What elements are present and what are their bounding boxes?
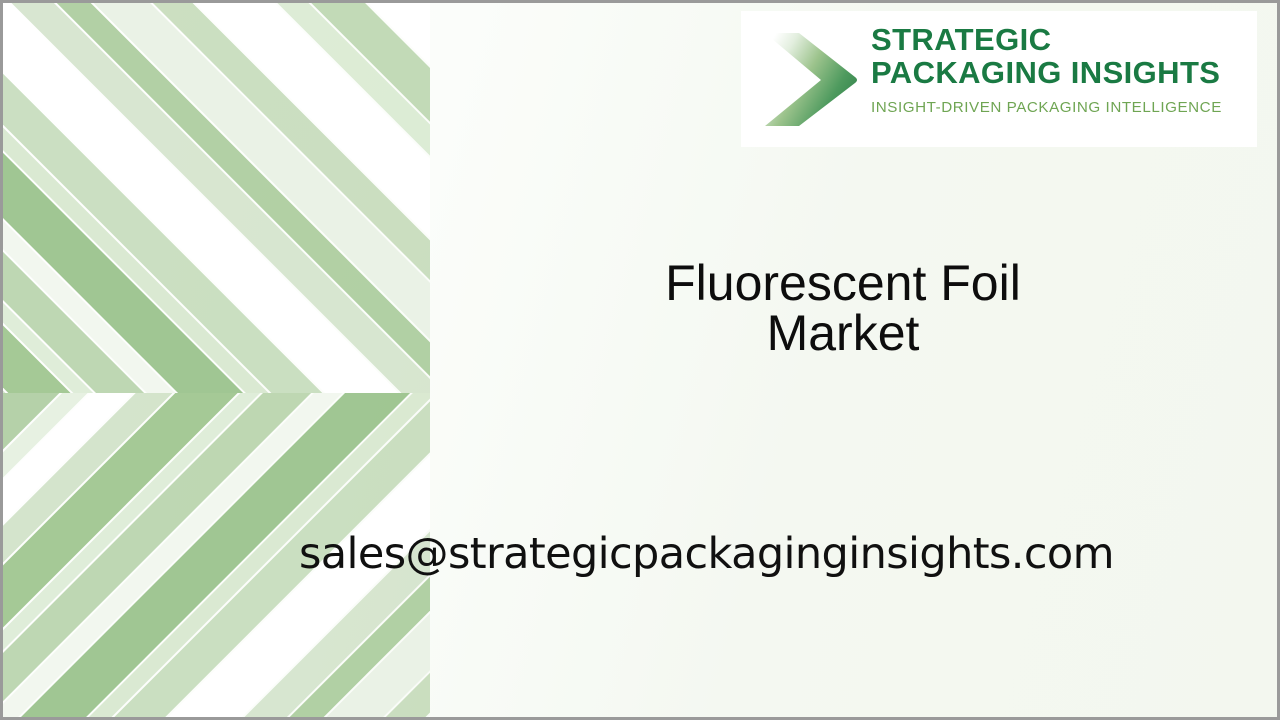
stripe-20 (0, 0, 430, 393)
presentation-slide: STRATEGIC PACKAGING INSIGHTS INSIGHT-DRI… (0, 0, 1280, 720)
stripe-19 (0, 0, 430, 393)
stripe-13 (0, 0, 430, 393)
stripe-17 (0, 0, 430, 393)
contact-email[interactable]: sales@strategicpackaginginsights.com (299, 527, 1114, 581)
stripe-0 (0, 120, 430, 393)
stripe-1 (0, 107, 430, 393)
company-logo: STRATEGIC PACKAGING INSIGHTS INSIGHT-DRI… (741, 11, 1257, 147)
stripe-24 (0, 0, 430, 393)
stripe-10 (0, 0, 430, 393)
stripe-21 (0, 0, 430, 393)
stripe-23 (0, 0, 430, 393)
stripe-9 (0, 0, 430, 393)
page-title-line-1: Fluorescent Foil (665, 255, 1021, 311)
page-title: Fluorescent Foil Market (563, 258, 1123, 358)
stripe-15 (0, 0, 430, 393)
stripe-26 (0, 0, 430, 393)
stripe-3 (0, 66, 430, 393)
stripe-group-upper (0, 0, 430, 393)
stripe-6 (0, 0, 430, 393)
stripe-2 (0, 76, 430, 393)
stripe-18 (0, 0, 430, 393)
stripe-25 (0, 0, 430, 393)
stripe-5 (0, 1, 430, 393)
stripe-14 (0, 0, 430, 393)
chevron-stripes-upper (0, 0, 430, 393)
stripe-4 (0, 27, 430, 393)
stripe-22 (0, 0, 430, 393)
stripe-12 (0, 0, 430, 393)
page-title-line-2: Market (767, 305, 920, 361)
stripe-11 (0, 0, 430, 393)
stripe-28 (0, 0, 430, 393)
stripe-16 (0, 0, 430, 393)
stripe-8 (0, 0, 430, 393)
stripe-7 (0, 0, 430, 393)
logo-tagline: INSIGHT-DRIVEN PACKAGING INTELLIGENCE (871, 99, 1253, 116)
stripe-27 (0, 0, 430, 393)
chevron-stripes-artwork (0, 0, 430, 720)
logo-wordmark: STRATEGIC PACKAGING INSIGHTS INSIGHT-DRI… (871, 23, 1253, 116)
logo-line-1: STRATEGIC (871, 23, 1253, 56)
logo-line-2: PACKAGING INSIGHTS (871, 56, 1253, 89)
chevron-logo-mark (755, 27, 861, 131)
